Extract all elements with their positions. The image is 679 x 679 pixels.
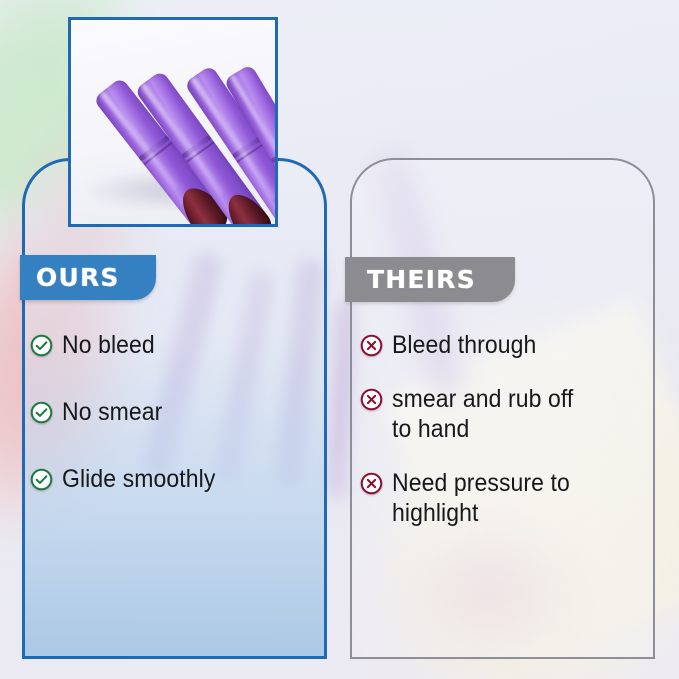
list-item-label: Glide smoothly [62,464,215,494]
theirs-feature-list: Bleed through smear and rub off to hand … [360,330,650,552]
list-item: Need pressure to highlight [360,468,650,528]
cross-circle-icon [360,472,383,495]
check-circle-icon [30,334,53,357]
list-item-label: Need pressure to highlight [392,468,570,528]
product-photo-canvas [71,20,275,224]
list-item: No smear [30,397,320,427]
list-item: Bleed through [360,330,650,360]
comparison-infographic: OURS THEIRS No bleed No smear Glide smoo… [0,0,679,679]
list-item-label: No bleed [62,330,155,360]
ours-banner-label: OURS [36,265,120,290]
theirs-banner-label: THEIRS [367,267,476,292]
check-circle-icon [30,401,53,424]
ours-banner: OURS [20,255,156,300]
ours-feature-list: No bleed No smear Glide smoothly [30,330,320,531]
list-item-label: No smear [62,397,162,427]
cross-circle-icon [360,388,383,411]
list-item: No bleed [30,330,320,360]
cross-circle-icon [360,334,383,357]
check-circle-icon [30,468,53,491]
theirs-banner: THEIRS [345,257,515,302]
list-item: Glide smoothly [30,464,320,494]
list-item-label: smear and rub off to hand [392,384,573,444]
product-photo [68,17,278,227]
list-item: smear and rub off to hand [360,384,650,444]
list-item-label: Bleed through [392,330,536,360]
